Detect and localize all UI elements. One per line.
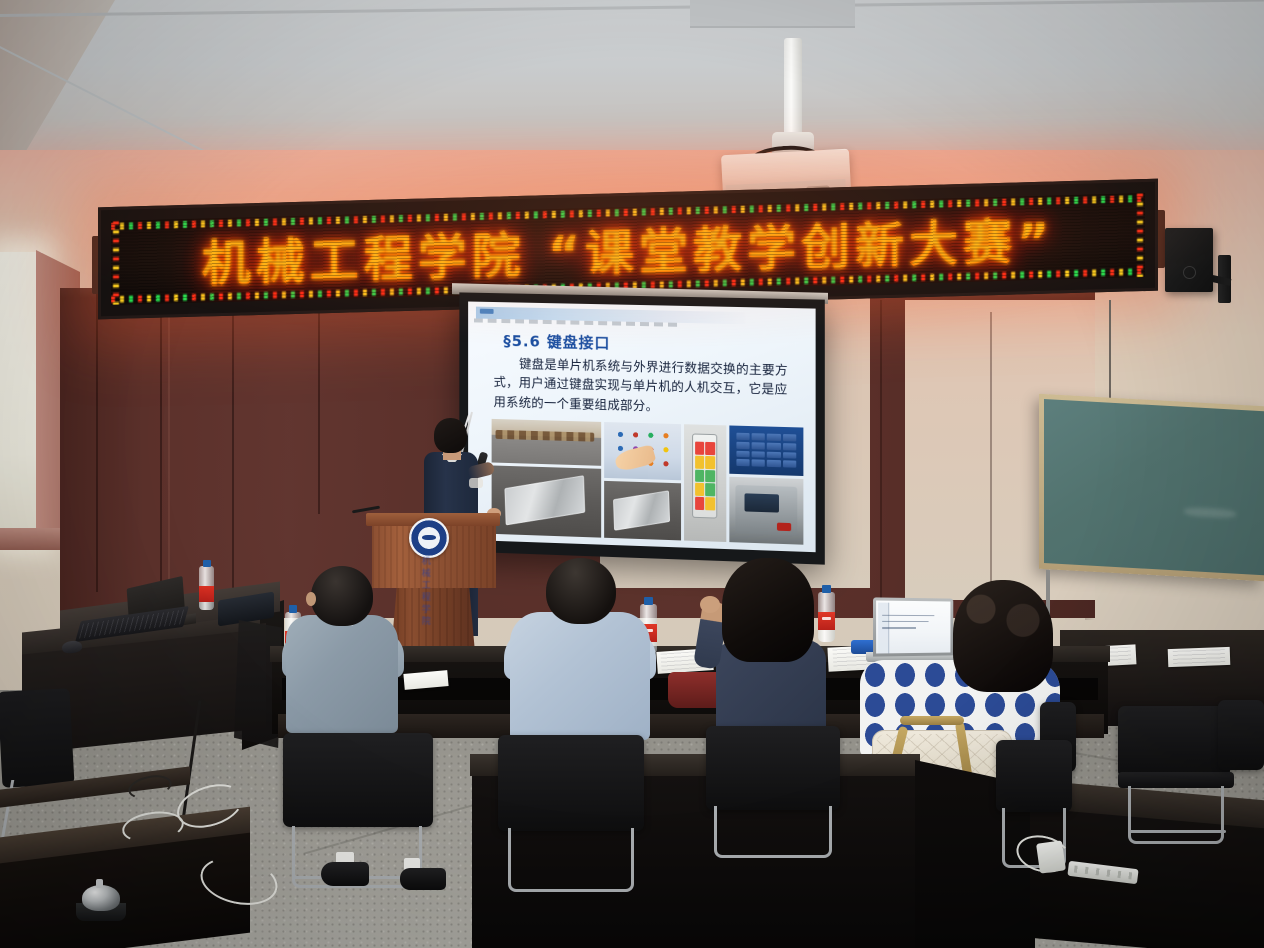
keypad-key [752,451,765,458]
slide-title: §5.6 键盘接口 [503,330,610,353]
bottle-cap [822,585,832,593]
chair-left-back[interactable] [0,688,74,788]
console-red-button [777,523,791,531]
keypad-key [783,452,796,459]
chair-back-person-c[interactable] [706,726,840,810]
slide-image-matrix-keypad [729,425,803,476]
attendee-navy-top-head [722,558,814,662]
shoe [400,868,446,890]
keypad-key [736,450,749,457]
keypad-key [767,451,780,458]
bottle-cap [203,560,211,567]
panel-seam [318,300,320,514]
empty-chair-back-far-right[interactable] [1218,700,1264,770]
chair-frame-person-b [508,828,634,892]
remote-key [695,483,705,496]
console-face [735,485,797,536]
service-bell[interactable] [82,885,120,911]
ceiling-recess-panel [690,0,855,28]
classroom-photo-scene: 机械工程学院 “课堂教学创新大赛” §5.6 键盘接口 键盘是单片机系统与外界进… [0,0,1264,948]
slide-image-industrial-remote [684,424,726,542]
projector-mount-pole [784,38,802,138]
chalkboard-surface [1044,399,1264,575]
slide-image-conference-room [492,419,601,466]
attendee-gray-polo-ear [306,592,316,606]
gallery-column-2 [604,422,681,540]
remote-key [706,497,716,510]
audience-laptop[interactable] [873,597,953,656]
hanging-wire [1109,300,1111,400]
remote-key [706,470,716,483]
laptop-screen-row [882,614,934,616]
chair-back-person-a[interactable] [283,733,433,827]
panel-highlight [168,300,170,598]
slide-image-control-panel-hand [604,422,681,480]
console-lcd-screen [745,494,779,513]
remote-key [695,455,705,468]
left-window [0,252,42,540]
keypad-key [767,442,780,449]
window-sill [0,528,60,550]
chalk-smudge [1184,507,1236,519]
ribbon-chip-icon [480,309,494,314]
empty-chair-back[interactable] [1118,706,1230,778]
remote-body [693,434,718,519]
attendee-light-blue-torso [510,612,650,740]
keypad-key [783,434,796,441]
keypad-key [736,441,749,448]
chair-back-person-b[interactable] [498,735,644,831]
remote-key [706,442,716,455]
water-bottle-left [199,566,214,610]
keypad-key [783,443,796,450]
evaluation-form [1168,647,1231,667]
panel-seam [880,300,882,600]
keypad-key [752,460,765,467]
gallery-column-3 [684,424,726,542]
presenter-head [434,418,467,453]
empty-chair-frame [1128,786,1224,844]
attendee-navy-top-hand [700,596,720,613]
keypad-key [767,433,780,440]
attendee-light-blue-head [546,558,616,624]
remote-key [706,456,716,469]
gallery-column-4 [729,425,803,544]
slide-image-metal-trays [492,465,601,537]
keypad-key [752,433,765,440]
bottle-cap [289,605,298,613]
service-bell-knob[interactable] [96,879,103,888]
panel-seam [96,292,98,592]
keypad-grid [736,432,795,468]
keypad-key [767,460,780,467]
keypad-key [736,459,749,466]
bottle-label [199,586,214,602]
chair-back-person-d[interactable] [996,740,1072,812]
presenter-sleeve [469,478,483,488]
laptop-screen-row [882,621,928,623]
bottle-label [818,612,835,630]
power-adapter [1036,840,1066,873]
slide-image-console-panel [729,477,803,545]
panel-seam [232,300,234,612]
remote-key [706,484,716,497]
projection-screen: §5.6 键盘接口 键盘是单片机系统与外界进行数据交换的主要方式，用户通过键盘实… [459,292,824,564]
slide-image-gallery [492,419,804,545]
laptop-screen-row [882,627,915,629]
audience-laptop-screen [876,600,950,653]
remote-key [695,497,705,510]
chair-frame-person-c [714,806,832,858]
keypad-key [736,432,749,439]
keypad-key [752,442,765,449]
podium-vertical-text: 机械工程学院 [416,556,432,628]
gallery-column-1 [492,419,601,538]
bottle-cap [644,597,654,605]
projection-screen-surface: §5.6 键盘接口 键盘是单片机系统与外界进行数据交换的主要方式，用户通过键盘实… [468,301,815,552]
remote-keypad [695,441,715,510]
water-bottle-c [818,592,835,642]
remote-key [695,441,705,454]
university-crest-icon [409,518,449,558]
slide-body-text: 键盘是单片机系统与外界进行数据交换的主要方式，用户通过键盘实现与单片机的人机交互… [494,354,799,420]
attendee-patterned-dress-head [953,580,1053,692]
led-banner-text: 机械工程学院 “课堂教学创新大赛” [111,200,1145,299]
wall-speaker [1165,228,1213,292]
attendee-gray-polo-torso [286,615,398,733]
empty-chair-rail [1128,830,1226,833]
chalkboard [1039,394,1264,582]
keypad-key [783,461,796,468]
form-lines [1173,649,1226,665]
panel-seam [990,312,992,602]
speaker-cone-icon [1183,266,1196,279]
remote-key [695,469,705,482]
panel-seam [160,300,162,600]
slide-image-trays-lower [604,481,681,541]
attendee-gray-polo-head [311,566,373,626]
shoe [321,862,369,886]
handbag-handle [900,716,964,725]
